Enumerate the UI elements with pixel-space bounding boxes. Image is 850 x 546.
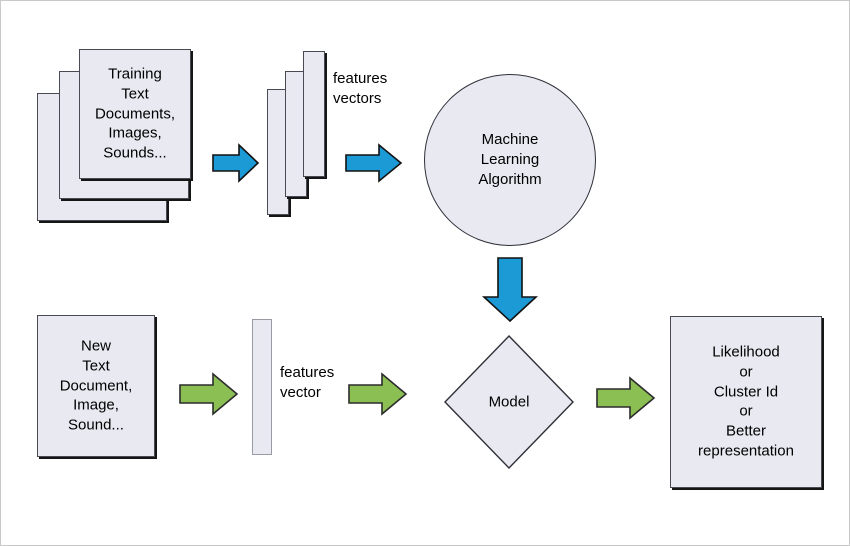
arrow-green-vector-to-model xyxy=(348,372,408,416)
arrow-green-input-to-vector xyxy=(179,372,239,416)
arrow-blue-documents-to-vectors xyxy=(212,143,260,183)
output-result-label: Likelihood or Cluster Id or Better repre… xyxy=(671,343,821,462)
training-documents-label: Training Text Documents, Images, Sounds.… xyxy=(80,65,190,164)
machine-learning-algorithm-circle: Machine Learning Algorithm xyxy=(424,74,596,246)
arrow-green-model-to-output xyxy=(596,376,656,420)
new-input-document-label: New Text Document, Image, Sound... xyxy=(38,337,154,436)
feature-vector-bar-3 xyxy=(303,51,325,177)
model-diamond: Model xyxy=(443,334,575,470)
diagram-canvas: Training Text Documents, Images, Sounds.… xyxy=(0,0,850,546)
new-input-document-box: New Text Document, Image, Sound... xyxy=(37,315,155,457)
arrow-blue-vectors-to-algorithm xyxy=(345,143,403,183)
training-documents-card-front: Training Text Documents, Images, Sounds.… xyxy=(79,49,191,179)
features-vectors-label: features vectors xyxy=(333,69,423,109)
machine-learning-algorithm-label: Machine Learning Algorithm xyxy=(478,130,541,191)
arrow-blue-algorithm-to-model xyxy=(482,257,538,323)
feature-vector-bar-single xyxy=(252,319,272,455)
model-label: Model xyxy=(443,394,575,411)
output-result-box: Likelihood or Cluster Id or Better repre… xyxy=(670,316,822,488)
